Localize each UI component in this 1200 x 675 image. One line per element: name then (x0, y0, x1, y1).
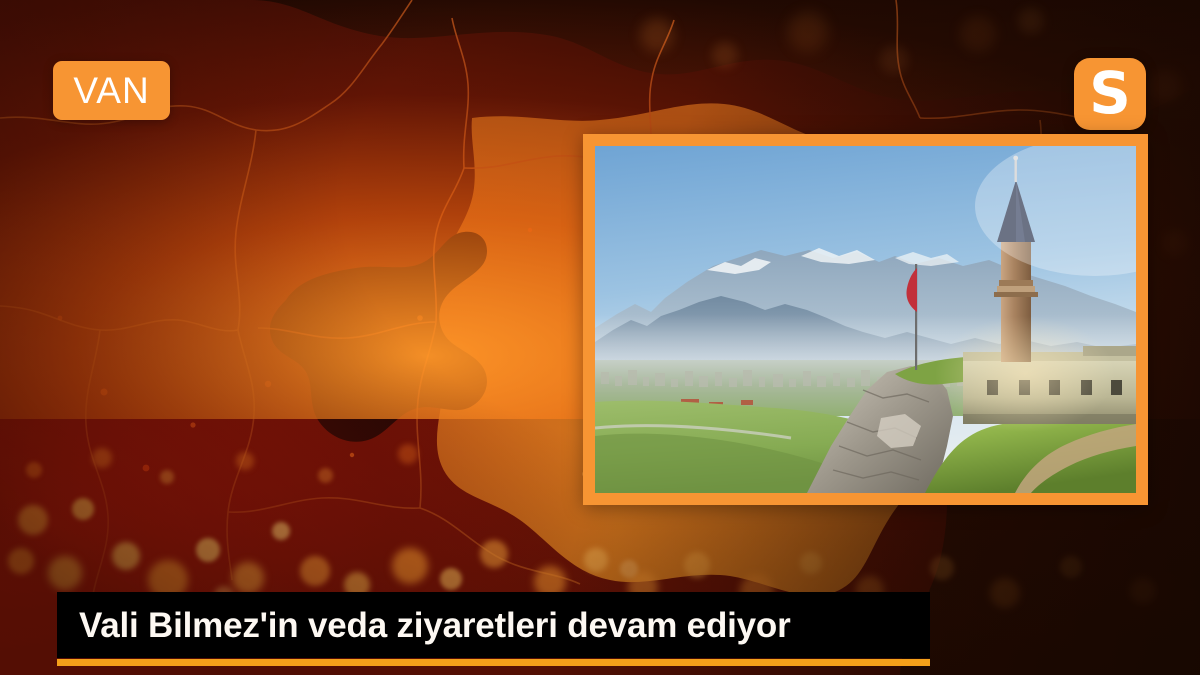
photo-sun-flare (935, 316, 1115, 432)
headline-underline (57, 659, 930, 666)
news-card: VAN S (0, 0, 1200, 675)
headline-bar: Vali Bilmez'in veda ziyaretleri devam ed… (57, 592, 930, 658)
photo-van-castle[interactable] (595, 146, 1136, 493)
page-title: Vali Bilmez'in veda ziyaretleri devam ed… (79, 608, 791, 643)
brand-logo-letter: S (1089, 64, 1131, 122)
photo-frame (583, 134, 1148, 505)
brand-s-icon[interactable]: S (1074, 58, 1146, 130)
province-badge-label: VAN (73, 72, 149, 109)
province-badge[interactable]: VAN (53, 61, 170, 120)
